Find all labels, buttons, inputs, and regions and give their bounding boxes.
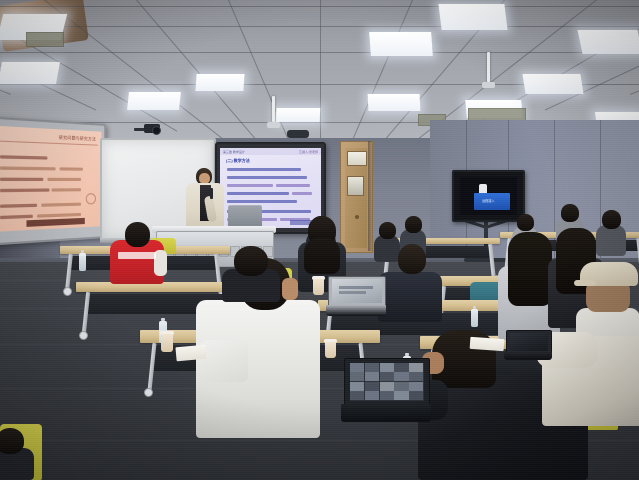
laptop-right-dark[interactable] (506, 330, 550, 360)
screen-doc-line-2 (339, 291, 366, 294)
coffee-cup-3[interactable] (325, 342, 336, 358)
video-tile-4 (394, 363, 408, 372)
screen-doc-line-1 (339, 286, 373, 289)
screen-dim (510, 333, 549, 351)
video-tile-1 (350, 363, 364, 372)
video-tile-11 (350, 382, 364, 391)
laptop-foreground-videocall[interactable] (344, 358, 428, 422)
coffee-cup-1[interactable] (313, 279, 324, 295)
water-bottle-1[interactable] (79, 253, 86, 271)
paper-handout-3[interactable] (470, 337, 505, 351)
video-tile-10 (409, 372, 423, 381)
desk-objects (0, 0, 639, 480)
video-tile-3 (380, 363, 394, 372)
laptop-midrow-silver[interactable] (328, 276, 384, 316)
video-tile-19 (394, 391, 408, 400)
water-bottle-3[interactable] (471, 309, 478, 327)
laptop-right-dark-base (504, 352, 552, 360)
video-tile-7 (365, 372, 379, 381)
video-tile-14 (394, 382, 408, 391)
video-tile-12 (365, 382, 379, 391)
video-tile-15 (409, 382, 423, 391)
laptop-foreground-videocall-base (341, 404, 432, 422)
laptop-foreground-videocall-screen (350, 363, 424, 401)
paper-handout-1[interactable] (175, 345, 206, 362)
video-tile-8 (380, 372, 394, 381)
laptop-right-dark-lid (506, 330, 552, 354)
laptop-midrow-silver-lid (328, 276, 386, 307)
classroom-photo: 研究问题与研究方法 课题组阶段性汇报材料 一、本章节主要研究内容 二、基于问卷调… (0, 0, 639, 480)
video-tile-2 (365, 363, 379, 372)
video-tile-5 (409, 363, 423, 372)
video-tile-6 (350, 372, 364, 381)
laptop-foreground-videocall-lid (344, 358, 430, 406)
video-tile-20 (409, 391, 423, 400)
video-tile-9 (394, 372, 408, 381)
laptop-midrow-silver-screen (332, 279, 381, 303)
video-tile-17 (365, 391, 379, 400)
video-tile-13 (380, 382, 394, 391)
video-tile-16 (350, 391, 364, 400)
coffee-cup-2[interactable] (161, 334, 173, 352)
video-tile-18 (380, 391, 394, 400)
laptop-right-dark-screen (510, 333, 549, 351)
laptop-midrow-silver-base (326, 305, 386, 316)
